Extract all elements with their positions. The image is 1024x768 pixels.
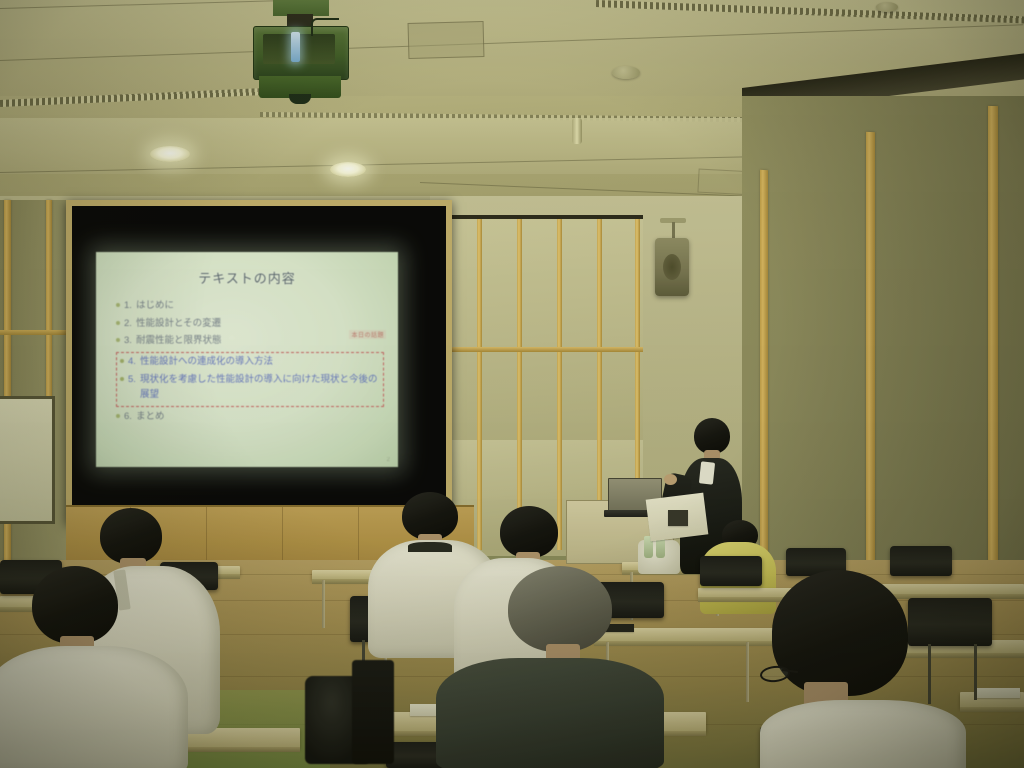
slide-item-text: まとめ: [136, 410, 165, 425]
slide-title: テキストの内容: [106, 268, 388, 287]
ceiling-speaker-icon: [655, 238, 689, 296]
ceiling-vent-panel: [408, 21, 485, 59]
presenter-head: [694, 418, 730, 454]
audience-head: [772, 570, 908, 696]
desk-papers: [976, 688, 1020, 698]
projection-screen: テキストの内容 本日の話題 1. はじめに 2. 性能設計とその変遷 3. 耐震…: [96, 252, 398, 467]
audience-head: [500, 506, 558, 558]
slide-highlight-box: 4. 性能設計への連成化の導入方法 5. 現状化を考慮した性能設計の導入に向けた…: [116, 352, 384, 407]
presenter-shirt-collar: [699, 461, 715, 484]
bullet-icon: [116, 321, 120, 325]
wall-batten: [988, 106, 998, 586]
audience-head: [32, 566, 118, 644]
ceiling-downlight: [330, 162, 366, 177]
slide-item: 6. まとめ: [116, 410, 384, 425]
bullet-icon: [120, 377, 124, 381]
audience-torso: [760, 700, 966, 768]
handout-photo: [668, 510, 688, 526]
slide-item-text: 耐震性能と限界状態: [136, 334, 222, 349]
projector-cable: [311, 18, 339, 36]
slide-item-text: 性能設計とその変遷: [136, 317, 221, 332]
slide-page-number: 2: [387, 457, 390, 463]
lecture-hall-photo: テキストの内容 本日の話題 1. はじめに 2. 性能設計とその変遷 3. 耐震…: [0, 0, 1024, 768]
slide-item: 2. 性能設計とその変遷: [116, 317, 384, 332]
bullet-icon: [120, 359, 124, 363]
eyeglasses-icon: [759, 664, 791, 683]
slide-item-text: 性能設計への連成化の導入方法: [140, 355, 273, 370]
shoji-rail: [437, 347, 643, 352]
presenter-hand: [664, 474, 677, 485]
smoke-detector-icon: [876, 2, 898, 12]
slide-item: 3. 耐震性能と限界状態: [116, 334, 384, 349]
smoke-detector-icon: [612, 66, 640, 79]
ceiling-projector: [253, 0, 353, 106]
audience-front-right-glasses: [752, 570, 982, 768]
slide-item-number: 1.: [124, 299, 132, 314]
slide-item-text: はじめに: [136, 299, 174, 314]
audience-front-center-grey: [436, 566, 676, 768]
slide-bullet-list: 1. はじめに 2. 性能設計とその変遷 3. 耐震性能と限界状態 4.: [106, 299, 388, 425]
bullet-icon: [116, 414, 120, 418]
projector-lamp-glow: [291, 32, 300, 62]
audience-torso: [0, 646, 188, 768]
bullet-icon: [116, 303, 120, 307]
wall-whiteboard: [0, 396, 55, 524]
wall-batten: [866, 132, 875, 592]
audience-torso: [436, 658, 664, 768]
slide-item-number: 6.: [124, 410, 132, 425]
slide-item: 1. はじめに: [116, 299, 384, 314]
slide-item-text: 現状化を考慮した性能設計の導入に向けた現状と今後の展望: [140, 373, 380, 402]
audience-front-left-near: [0, 566, 204, 768]
audience-head: [100, 508, 162, 564]
slide-item-number: 3.: [124, 334, 132, 349]
desk-leg: [322, 580, 325, 628]
slide-item-number: 4.: [128, 355, 136, 370]
audience-head: [508, 566, 612, 652]
projector-lens-icon: [289, 94, 311, 104]
wall-batten-horizontal: [0, 330, 70, 335]
slide-item-highlighted: 5. 現状化を考慮した性能設計の導入に向けた現状と今後の展望: [120, 373, 380, 402]
slide-content: テキストの内容 本日の話題 1. はじめに 2. 性能設計とその変遷 3. 耐震…: [96, 252, 398, 467]
slide-item-number: 5.: [128, 373, 136, 388]
slide-item-highlighted: 4. 性能設計への連成化の導入方法: [120, 355, 380, 370]
desk-leg: [746, 642, 749, 702]
bullet-icon: [116, 338, 120, 342]
ceiling-downlight: [150, 146, 190, 162]
wall-batten: [46, 200, 52, 400]
sprinkler-head-icon: [572, 118, 582, 144]
speaker-cone: [663, 254, 681, 280]
slide-item-number: 2.: [124, 317, 132, 332]
